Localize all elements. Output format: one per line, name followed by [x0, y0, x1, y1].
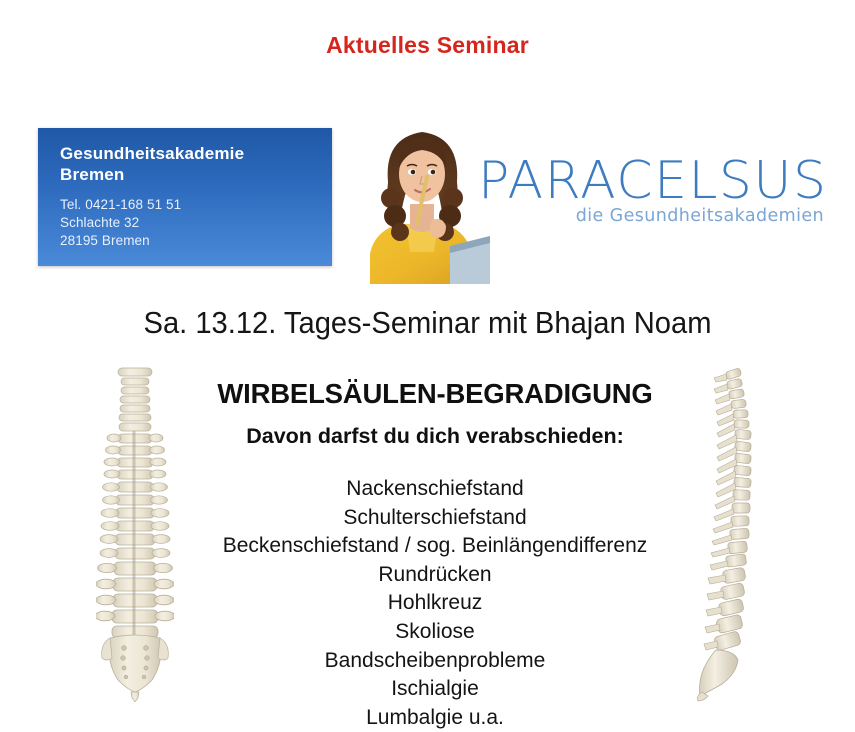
- list-item: Lumbalgie u.a.: [185, 704, 685, 732]
- academy-city: 28195 Bremen: [60, 232, 181, 250]
- woman-with-notebook-photo: [354, 112, 490, 284]
- seminar-subtitle: Davon darfst du dich verabschieden:: [185, 424, 685, 449]
- paracelsus-logo: PARACELSUS die Gesundheitsakademien: [478, 154, 826, 244]
- list-item: Nackenschiefstand: [185, 475, 685, 504]
- academy-contact: Tel. 0421-168 51 51 Schlachte 32 28195 B…: [60, 196, 181, 250]
- spine-anterior-view-illustration: [96, 362, 174, 702]
- list-item: Rundrücken: [185, 561, 685, 590]
- list-item: Skoliose: [185, 618, 685, 647]
- list-item: Ischialgie: [185, 675, 685, 704]
- academy-info-box: Gesundheitsakademie Bremen Tel. 0421-168…: [38, 128, 332, 266]
- list-item: Beckenschiefstand / sog. Beinlängendiffe…: [185, 532, 685, 561]
- conditions-list: Nackenschiefstand Schulterschiefstand Be…: [185, 475, 685, 732]
- page-headline: Aktuelles Seminar: [0, 32, 855, 59]
- list-item: Hohlkreuz: [185, 589, 685, 618]
- seminar-main-title: WIRBELSÄULEN-BEGRADIGUNG: [185, 378, 685, 410]
- seminar-banner: Gesundheitsakademie Bremen Tel. 0421-168…: [38, 112, 828, 284]
- seminar-content: WIRBELSÄULEN-BEGRADIGUNG Davon darfst du…: [185, 378, 685, 732]
- list-item: Schulterschiefstand: [185, 504, 685, 533]
- academy-phone: Tel. 0421-168 51 51: [60, 196, 181, 214]
- academy-street: Schlachte 32: [60, 214, 181, 232]
- academy-name: Gesundheitsakademie Bremen: [60, 143, 244, 185]
- academy-name-line2: Bremen: [60, 164, 244, 185]
- spine-lateral-view-illustration: [692, 362, 772, 702]
- list-item: Bandscheibenprobleme: [185, 647, 685, 676]
- academy-name-line1: Gesundheitsakademie: [60, 143, 244, 164]
- seminar-date-line: Sa. 13.12. Tages-Seminar mit Bhajan Noam: [26, 305, 830, 341]
- paracelsus-wordmark: PARACELSUS: [478, 154, 826, 208]
